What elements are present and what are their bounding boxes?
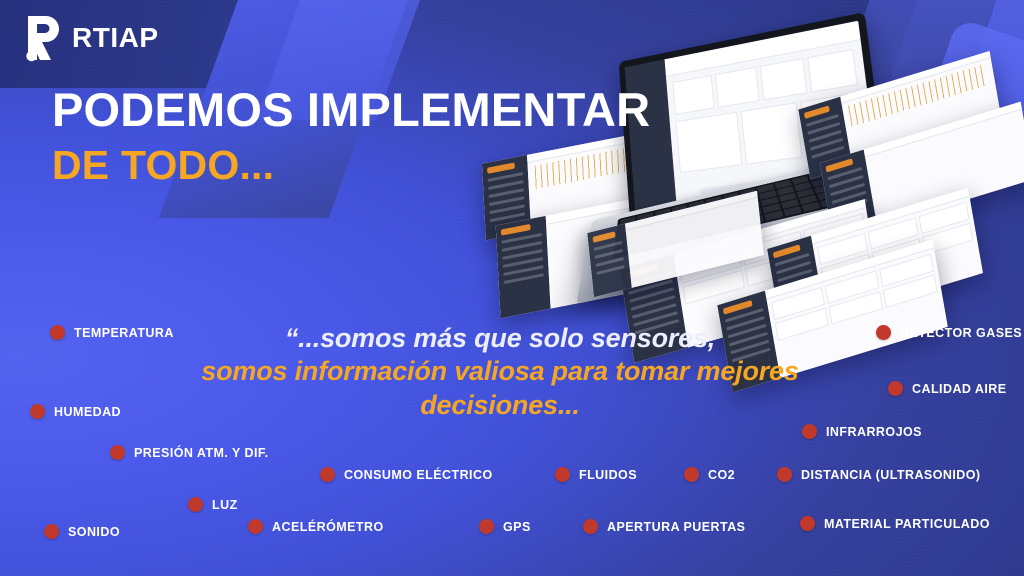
sensor-tag[interactable]: INFRARROJOS (802, 424, 922, 439)
sensor-label: GPS (503, 520, 531, 534)
sensor-bullet-icon (684, 467, 699, 482)
sensor-bullet-icon (110, 445, 125, 460)
sensor-bullet-icon (888, 381, 903, 396)
sensor-label: CO2 (708, 468, 735, 482)
sensor-label: TEMPERATURA (74, 326, 174, 340)
sensor-bullet-icon (876, 325, 891, 340)
sensor-tag[interactable]: HUMEDAD (30, 404, 121, 419)
sensor-tag[interactable]: TEMPERATURA (50, 325, 174, 340)
panel-sidebar (496, 216, 551, 318)
sensor-tag[interactable]: PRESIÓN ATM. Y DIF. (110, 445, 269, 460)
page-title: PODEMOS IMPLEMENTAR DE TODO... (52, 86, 650, 187)
sensor-bullet-icon (583, 519, 598, 534)
sensor-label: CONSUMO ELÉCTRICO (344, 468, 493, 482)
quote-line-2: somos información valiosa para tomar mej… (150, 355, 850, 388)
quote-line-1: “...somos más que solo sensores, (150, 322, 850, 355)
sensor-tag[interactable]: SONIDO (44, 524, 120, 539)
sensor-label: FLUIDOS (579, 468, 637, 482)
brand-logo: RTIAP (16, 12, 159, 64)
sensor-tag[interactable]: CONSUMO ELÉCTRICO (320, 467, 493, 482)
sensor-tag[interactable]: CALIDAD AIRE (888, 381, 1007, 396)
sensor-tag[interactable]: DETECTOR GASES (876, 325, 1022, 340)
sensor-label: ACELÉRÓMETRO (272, 520, 384, 534)
sensor-bullet-icon (44, 524, 59, 539)
sensor-tag[interactable]: GPS (479, 519, 531, 534)
rtiap-r-logo-icon (16, 12, 66, 64)
sensor-bullet-icon (188, 497, 203, 512)
sensor-bullet-icon (248, 519, 263, 534)
sensor-label: HUMEDAD (54, 405, 121, 419)
sensor-label: CALIDAD AIRE (912, 382, 1007, 396)
sensor-tag[interactable]: APERTURA PUERTAS (583, 519, 745, 534)
quote-line-3: decisiones... (150, 389, 850, 422)
sensor-bullet-icon (777, 467, 792, 482)
sensor-label: LUZ (212, 498, 238, 512)
sensor-label: DISTANCIA (ULTRASONIDO) (801, 468, 981, 482)
headline-line-1: PODEMOS IMPLEMENTAR (52, 86, 650, 134)
sensor-bullet-icon (800, 516, 815, 531)
sensor-bullet-icon (30, 404, 45, 419)
sensor-label: INFRARROJOS (826, 425, 922, 439)
sensor-tag[interactable]: CO2 (684, 467, 735, 482)
sensor-tag[interactable]: ACELÉRÓMETRO (248, 519, 384, 534)
sensor-bullet-icon (802, 424, 817, 439)
sensor-bullet-icon (479, 519, 494, 534)
sensor-bullet-icon (50, 325, 65, 340)
brand-name: RTIAP (72, 24, 159, 52)
quote-block: “...somos más que solo sensores, somos i… (150, 322, 850, 422)
sensor-tag[interactable]: LUZ (188, 497, 238, 512)
sensor-label: MATERIAL PARTICULADO (824, 517, 990, 531)
sensor-label: SONIDO (68, 525, 120, 539)
sensor-label: PRESIÓN ATM. Y DIF. (134, 446, 269, 460)
sensor-bullet-icon (320, 467, 335, 482)
headline-line-2: DE TODO... (52, 144, 650, 187)
sensor-label: APERTURA PUERTAS (607, 520, 745, 534)
sensor-tag[interactable]: DISTANCIA (ULTRASONIDO) (777, 467, 981, 482)
sensor-bullet-icon (555, 467, 570, 482)
sensor-tag[interactable]: MATERIAL PARTICULADO (800, 516, 990, 531)
sensor-label: DETECTOR GASES (900, 326, 1022, 340)
panel-sidebar (587, 224, 631, 298)
sensor-tag[interactable]: FLUIDOS (555, 467, 637, 482)
slide-root: RTIAP PODEMOS IMPLEMENTAR DE TODO... (0, 0, 1024, 576)
